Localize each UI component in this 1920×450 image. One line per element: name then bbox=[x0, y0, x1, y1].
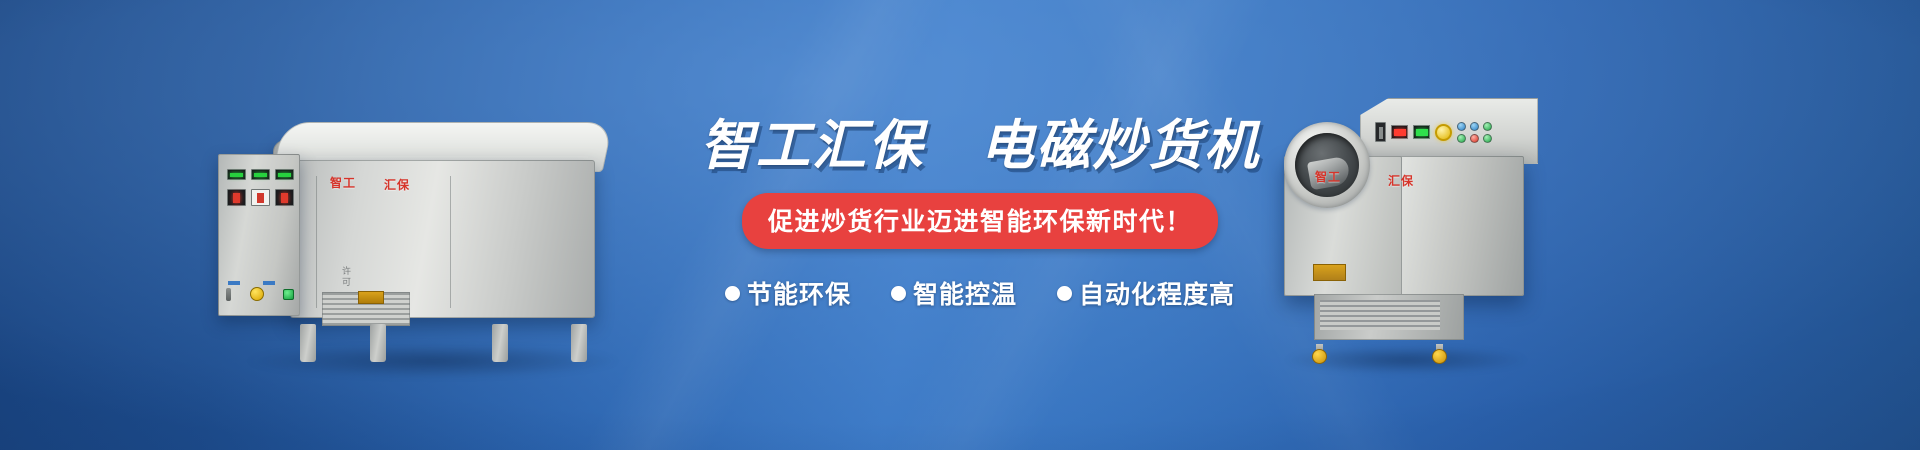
banner-tagline-badge: 促进炒货行业迈进智能环保新时代！ bbox=[742, 193, 1218, 249]
machine-right-button-2 bbox=[1470, 122, 1479, 131]
machine-right-door-ring bbox=[1284, 122, 1370, 208]
banner-badge-wrapper: 促进炒货行业迈进智能环保新时代！ bbox=[700, 193, 1260, 249]
feature-label-2: 智能控温 bbox=[913, 275, 1017, 311]
machine-right-door-opening bbox=[1295, 133, 1359, 197]
machine-left-gauge-3 bbox=[275, 169, 294, 180]
machine-left-gauge-group bbox=[227, 169, 294, 180]
machine-left-leg-4 bbox=[571, 324, 587, 362]
machine-left-brand-mark-1: 智工 bbox=[330, 174, 356, 191]
machine-left-leg-group bbox=[296, 322, 591, 362]
machine-right-button-3 bbox=[1483, 122, 1492, 131]
machine-left-meter-3 bbox=[275, 189, 294, 206]
machine-right-display-1 bbox=[1391, 125, 1408, 139]
feature-item-smart-temperature: 智能控温 bbox=[891, 275, 1017, 311]
machine-right-dial bbox=[1375, 122, 1386, 142]
machine-right-roaster: 智工 汇保 bbox=[1268, 96, 1548, 366]
machine-left-door-panel-2 bbox=[450, 176, 584, 308]
banner-copy-block: 智工汇保 电磁炒货机 促进炒货行业迈进智能环保新时代！ 节能环保 智能控温 自动… bbox=[700, 118, 1260, 311]
machine-right-base-vent-grille bbox=[1320, 300, 1440, 330]
machine-right-brand-mark-2: 汇保 bbox=[1388, 172, 1414, 189]
machine-left-knob-group bbox=[226, 287, 294, 301]
machine-right-emergency-stop-icon bbox=[1435, 124, 1452, 141]
machine-right-caster-left bbox=[1312, 349, 1327, 364]
machine-left-leg-2 bbox=[370, 324, 386, 362]
machine-left-panel-label-2 bbox=[263, 281, 275, 285]
promo-banner: 智工 汇保 许可 bbox=[0, 0, 1920, 450]
machine-right-button-5 bbox=[1470, 134, 1479, 143]
machine-left-meter-2 bbox=[251, 189, 270, 206]
machine-right-brand-mark-1: 智工 bbox=[1315, 168, 1341, 185]
machine-left-gauge-1 bbox=[227, 169, 246, 180]
machine-left-start-button bbox=[283, 289, 294, 300]
machine-left-leg-3 bbox=[492, 324, 508, 362]
feature-label-1: 节能环保 bbox=[747, 275, 851, 311]
machine-left-leg-1 bbox=[300, 324, 316, 362]
banner-headline: 智工汇保 电磁炒货机 bbox=[700, 118, 1260, 175]
machine-right-button-row-1 bbox=[1457, 122, 1492, 131]
machine-right-button-row-2 bbox=[1457, 134, 1492, 143]
machine-left-panel-label-1 bbox=[228, 281, 240, 285]
banner-feature-list: 节能环保 智能控温 自动化程度高 bbox=[700, 275, 1260, 311]
machine-right-display-2 bbox=[1413, 125, 1430, 139]
machine-right-rating-sticker bbox=[1313, 264, 1346, 281]
machine-left-roaster: 智工 汇保 许可 bbox=[218, 96, 638, 366]
machine-right-button-group bbox=[1457, 122, 1492, 143]
machine-left-toggle-switch bbox=[226, 288, 231, 301]
machine-left-meter-1 bbox=[227, 189, 246, 206]
machine-right-button-1 bbox=[1457, 122, 1466, 131]
machine-left-door-panels bbox=[316, 176, 584, 308]
headline-product: 电磁炒货机 bbox=[980, 116, 1260, 176]
feature-label-3: 自动化程度高 bbox=[1079, 275, 1235, 311]
bullet-dot-icon bbox=[891, 286, 906, 301]
machine-right-button-6 bbox=[1483, 134, 1492, 143]
machine-left-panel-vertical-text: 许可 bbox=[340, 266, 353, 288]
machine-right-control-panel bbox=[1370, 114, 1528, 150]
machine-left-control-panel bbox=[218, 154, 300, 316]
machine-left-door-panel-1 bbox=[316, 176, 450, 308]
machine-left-rating-sticker bbox=[358, 291, 384, 304]
headline-brand: 智工汇保 bbox=[700, 116, 924, 176]
machine-left-emergency-stop-knob bbox=[250, 287, 264, 301]
bullet-dot-icon bbox=[1057, 286, 1072, 301]
feature-item-automation: 自动化程度高 bbox=[1057, 275, 1235, 311]
machine-left-brand-mark-2: 汇保 bbox=[384, 176, 410, 193]
bullet-dot-icon bbox=[725, 286, 740, 301]
machine-right-caster-right bbox=[1432, 349, 1447, 364]
machine-right-button-4 bbox=[1457, 134, 1466, 143]
machine-left-gauge-2 bbox=[251, 169, 270, 180]
machine-left-meter-group bbox=[227, 189, 294, 206]
feature-item-energy-saving: 节能环保 bbox=[725, 275, 851, 311]
